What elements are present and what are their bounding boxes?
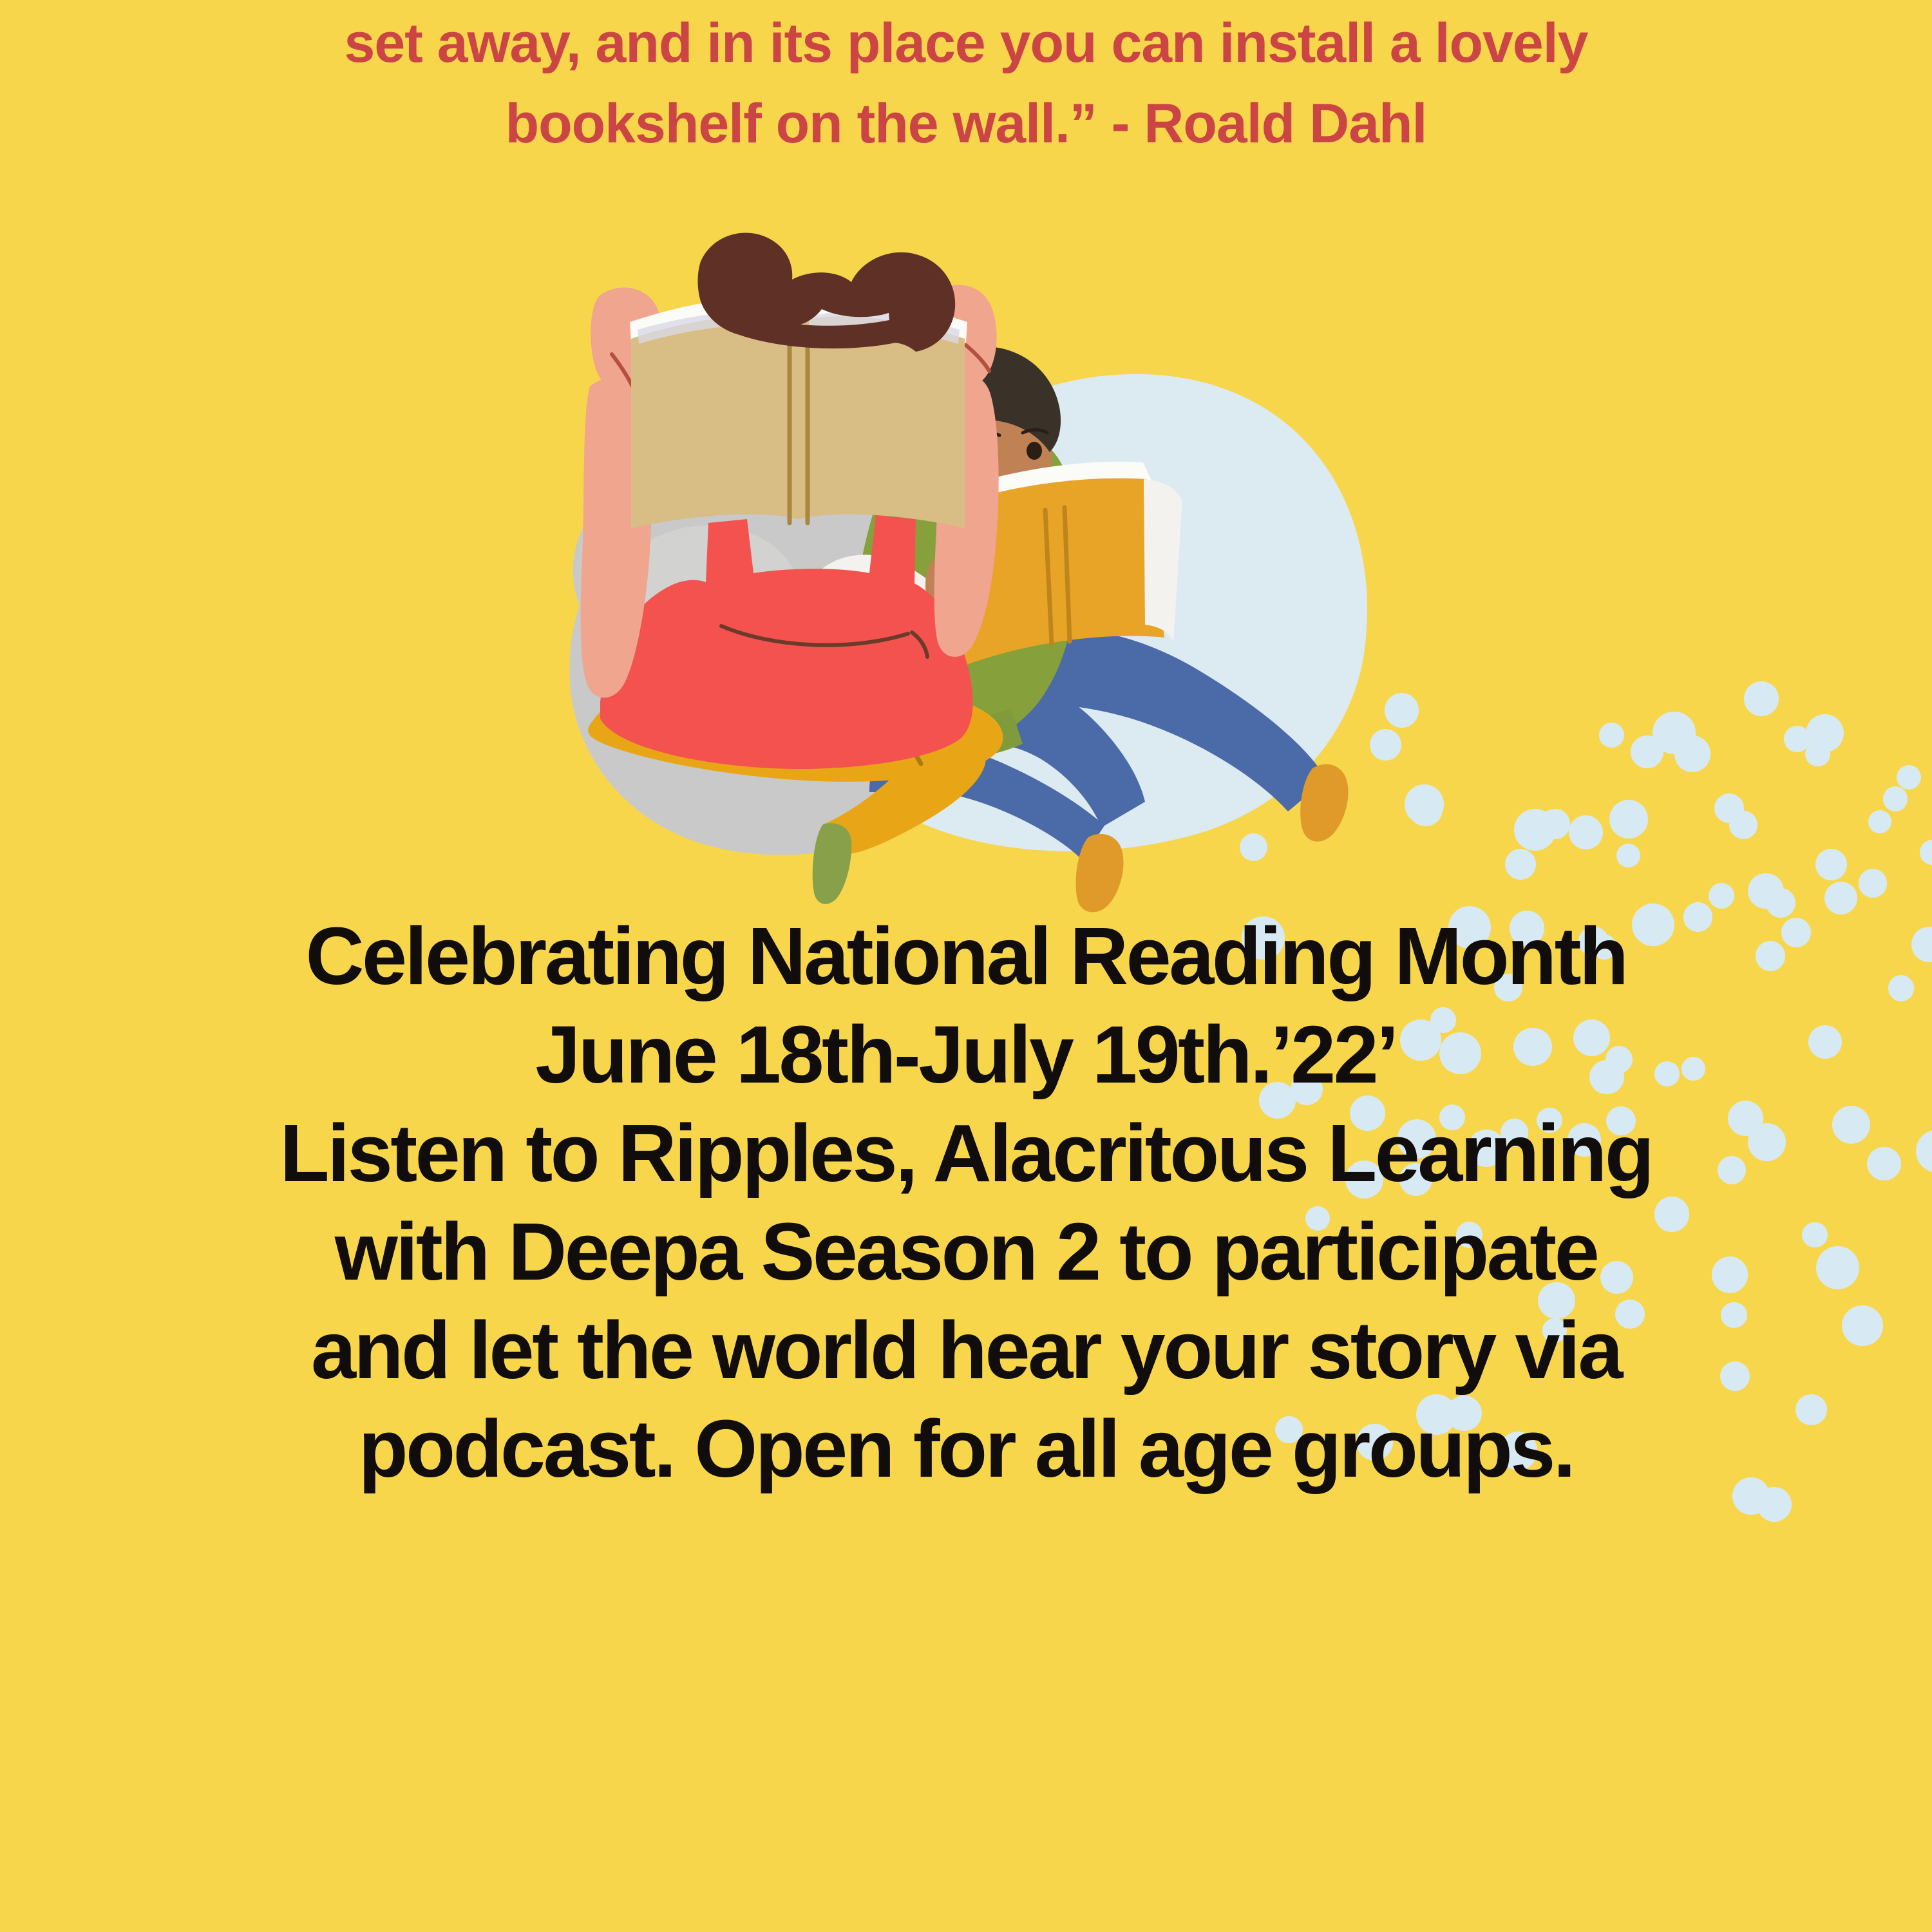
decorative-dot xyxy=(1599,723,1624,748)
decorative-dot xyxy=(1868,810,1891,833)
headline-line-2: June 18th-July 19th.’22’ xyxy=(0,1005,1932,1104)
headline-line-1: Celebrating National Reading Month xyxy=(0,907,1932,1005)
headline-line-3: Listen to Ripples, Alacritous Learning xyxy=(0,1104,1932,1202)
decorative-dot xyxy=(1569,815,1604,850)
decorative-dot xyxy=(1883,786,1908,811)
decorative-dot xyxy=(1653,712,1696,755)
decorative-dot xyxy=(1920,840,1932,865)
girl-foot xyxy=(813,823,852,904)
headline-line-4: with Deepa Season 2 to participate xyxy=(0,1202,1932,1301)
decorative-dot xyxy=(1664,719,1696,751)
boy-eye-right xyxy=(1027,442,1042,460)
reading-illustration xyxy=(361,193,1520,934)
decorative-dot xyxy=(1616,844,1640,867)
headline-line-5: and let the world hear your story via xyxy=(0,1301,1932,1399)
decorative-dot xyxy=(1806,714,1844,753)
decorative-dot xyxy=(1897,765,1921,790)
decorative-dot xyxy=(1805,742,1830,766)
decorative-dot xyxy=(1609,800,1647,838)
poster-canvas: “So please, oh please, we beg, we pray, … xyxy=(0,0,1932,1932)
decorative-dot xyxy=(1709,883,1734,909)
decorative-dot xyxy=(1815,849,1847,880)
decorative-dot xyxy=(1744,681,1778,715)
decorative-dot xyxy=(1631,735,1663,768)
decorative-dot xyxy=(1748,873,1783,909)
roald-dahl-quote: “So please, oh please, we beg, we pray, … xyxy=(0,0,1932,164)
decorative-dot xyxy=(1540,809,1570,839)
event-headline-block: Celebrating National Reading Month June … xyxy=(0,907,1932,1498)
decorative-dot xyxy=(1514,809,1556,851)
decorative-dot xyxy=(1859,869,1887,897)
decorative-dot xyxy=(1674,735,1711,772)
quote-line-2: bookshelf on the wall.” - Roald Dahl xyxy=(0,84,1932,164)
headline-line-6: podcast. Open for all age groups. xyxy=(0,1399,1932,1498)
decorative-dot xyxy=(1784,726,1811,753)
decorative-dot xyxy=(1729,811,1757,839)
quote-line-1: set away, and in its place you can insta… xyxy=(0,3,1932,84)
decorative-dot xyxy=(1714,793,1744,823)
